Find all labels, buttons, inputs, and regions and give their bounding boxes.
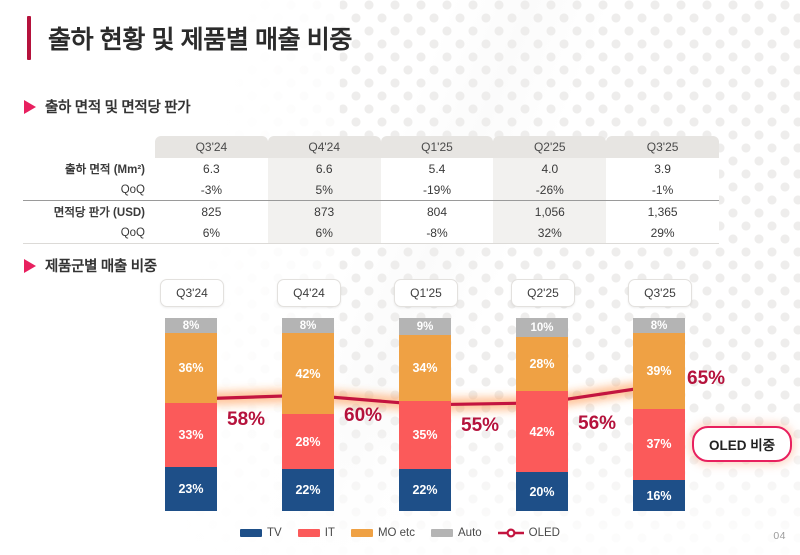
section-heading-revenue-mix: 제품군별 매출 비중 (24, 255, 157, 276)
table-header-row: Q3'24 Q4'24 Q1'25 Q2'25 Q3'25 (23, 136, 719, 158)
legend-swatch-mo-etc (351, 529, 373, 537)
table-cell-0-2: 5.4 (381, 158, 494, 179)
legend-label-auto: Auto (458, 527, 482, 539)
table-cell-2-1: 873 (268, 200, 381, 222)
triangle-bullet-icon (24, 259, 36, 273)
bar-segment-tv: 20% (516, 472, 568, 511)
legend-item-auto: Auto (431, 527, 482, 539)
legend-label-it: IT (325, 527, 335, 539)
table-cell-0-3: 4.0 (493, 158, 606, 179)
quarter-pill-q424: Q4'24 (277, 279, 341, 307)
bar-segment-it: 42% (516, 391, 568, 472)
bar-segment-auto: 8% (282, 318, 334, 333)
stacked-bar: 8%39%37%16% (633, 318, 685, 511)
bar-segment-it: 35% (399, 401, 451, 469)
legend-label-mo-etc: MO etc (378, 527, 415, 539)
oled-value-label-q325: 65% (687, 368, 725, 390)
bar-segment-mo-etc: 34% (399, 335, 451, 401)
table-cell-1-2: -19% (381, 179, 494, 200)
bar-segment-tv: 22% (282, 469, 334, 511)
legend-item-oled: OLED (498, 527, 560, 539)
table-cell-3-1: 6% (268, 222, 381, 244)
quarter-pill-q325: Q3'25 (628, 279, 692, 307)
table-row-label-3: QoQ (23, 222, 155, 244)
table-row-label-2: 면적당 판가 (USD) (23, 200, 155, 222)
table-cell-0-1: 6.6 (268, 158, 381, 179)
table-corner-cell (23, 136, 155, 158)
quarter-pill-q225: Q2'25 (511, 279, 575, 307)
table-cell-3-0: 6% (155, 222, 268, 244)
bar-segment-it: 33% (165, 403, 217, 467)
table-row: QoQ 6% 6% -8% 32% 29% (23, 222, 719, 244)
stacked-bar: 8%42%28%22% (282, 318, 334, 511)
page-title: 출하 현황 및 제품별 매출 비중 (27, 16, 352, 60)
bar-segment-auto: 9% (399, 318, 451, 335)
bar-segment-tv: 16% (633, 480, 685, 511)
page-number: 04 (773, 530, 786, 542)
table-col-header-1: Q4'24 (268, 136, 381, 158)
bar-segment-it: 37% (633, 409, 685, 480)
legend-item-tv: TV (240, 527, 282, 539)
table-cell-1-4: -1% (606, 179, 719, 200)
table-cell-3-4: 29% (606, 222, 719, 244)
bar-segment-mo-etc: 42% (282, 333, 334, 414)
shipment-table: Q3'24 Q4'24 Q1'25 Q2'25 Q3'25 출하 면적 (Mm²… (23, 136, 719, 244)
table-cell-1-3: -26% (493, 179, 606, 200)
quarter-pill-q324: Q3'24 (160, 279, 224, 307)
oled-value-label-q125: 55% (461, 415, 499, 437)
oled-value-label-q225: 56% (578, 413, 616, 435)
stacked-bar: 8%36%33%23% (165, 318, 217, 511)
legend-marker-oled-icon (498, 528, 524, 538)
bar-segment-it: 28% (282, 414, 334, 468)
table-cell-1-1: 5% (268, 179, 381, 200)
bar-segment-auto: 8% (165, 318, 217, 333)
legend-swatch-auto (431, 529, 453, 537)
table-cell-3-3: 32% (493, 222, 606, 244)
chart-legend: TV IT MO etc Auto OLED (0, 527, 800, 539)
legend-label-tv: TV (267, 527, 282, 539)
table-col-header-2: Q1'25 (381, 136, 494, 158)
legend-item-mo-etc: MO etc (351, 527, 415, 539)
table-col-header-0: Q3'24 (155, 136, 268, 158)
oled-share-callout: OLED 비중 (692, 426, 792, 462)
quarter-pill-q125: Q1'25 (394, 279, 458, 307)
bar-segment-mo-etc: 28% (516, 337, 568, 391)
legend-label-oled: OLED (529, 527, 560, 539)
title-accent-bar (27, 16, 31, 60)
triangle-bullet-icon (24, 100, 36, 114)
slide-canvas: 출하 현황 및 제품별 매출 비중 출하 면적 및 면적당 판가 Q3'24 Q… (0, 0, 800, 555)
table-row: 면적당 판가 (USD) 825 873 804 1,056 1,365 (23, 200, 719, 222)
table-row-label-0: 출하 면적 (Mm²) (23, 158, 155, 179)
bar-segment-auto: 10% (516, 318, 568, 337)
table-col-header-4: Q3'25 (606, 136, 719, 158)
bar-segment-mo-etc: 39% (633, 333, 685, 408)
oled-value-label-q424: 60% (344, 405, 382, 427)
section-heading-shipment: 출하 면적 및 면적당 판가 (24, 96, 190, 117)
table-cell-2-4: 1,365 (606, 200, 719, 222)
table-cell-1-0: -3% (155, 179, 268, 200)
section2-label: 제품군별 매출 비중 (45, 255, 157, 276)
table-cell-2-2: 804 (381, 200, 494, 222)
legend-swatch-it (298, 529, 320, 537)
bar-segment-auto: 8% (633, 318, 685, 333)
title-text: 출하 현황 및 제품별 매출 비중 (48, 20, 352, 56)
stacked-bar: 10%28%42%20% (516, 318, 568, 511)
oled-value-label-q324: 58% (227, 409, 265, 431)
legend-swatch-tv (240, 529, 262, 537)
table-cell-3-2: -8% (381, 222, 494, 244)
legend-item-it: IT (298, 527, 335, 539)
table-row: QoQ -3% 5% -19% -26% -1% (23, 179, 719, 200)
bar-segment-mo-etc: 36% (165, 333, 217, 402)
table-row-label-1: QoQ (23, 179, 155, 200)
table-row: 출하 면적 (Mm²) 6.3 6.6 5.4 4.0 3.9 (23, 158, 719, 179)
table-cell-0-4: 3.9 (606, 158, 719, 179)
bar-segment-tv: 23% (165, 467, 217, 511)
stacked-bar: 9%34%35%22% (399, 318, 451, 511)
table-col-header-3: Q2'25 (493, 136, 606, 158)
table-cell-2-0: 825 (155, 200, 268, 222)
bar-segment-tv: 22% (399, 469, 451, 511)
revenue-mix-chart: Q3'24Q4'24Q1'25Q2'25Q3'258%36%33%23%8%42… (0, 274, 800, 524)
table-cell-2-3: 1,056 (493, 200, 606, 222)
table-cell-0-0: 6.3 (155, 158, 268, 179)
section1-label: 출하 면적 및 면적당 판가 (45, 96, 190, 117)
